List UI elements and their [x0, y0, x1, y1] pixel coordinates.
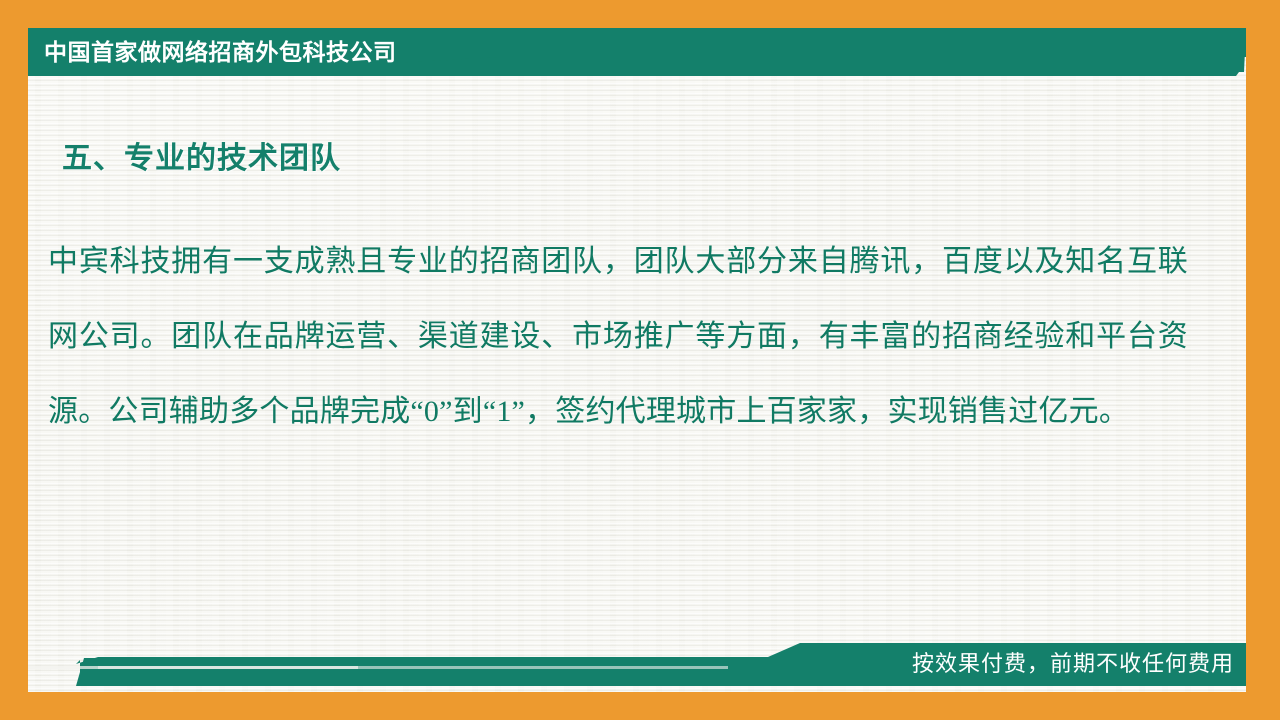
- presentation-slide: 中国首家做网络招商外包科技公司 五、专业的技术团队 中宾科技拥有一支成熟且专业的…: [0, 0, 1280, 720]
- section-heading: 五、专业的技术团队: [62, 133, 341, 177]
- header-title: 中国首家做网络招商外包科技公司: [44, 33, 514, 71]
- body-paragraph: 中宾科技拥有一支成熟且专业的招商团队，团队大部分来自腾讯，百度以及知名互联网公司…: [48, 224, 1188, 449]
- body-paragraph-block: 中宾科技拥有一支成熟且专业的招商团队，团队大部分来自腾讯，百度以及知名互联网公司…: [48, 224, 1188, 449]
- footer-tagline: 按效果付费，前期不收任何费用: [912, 645, 1234, 683]
